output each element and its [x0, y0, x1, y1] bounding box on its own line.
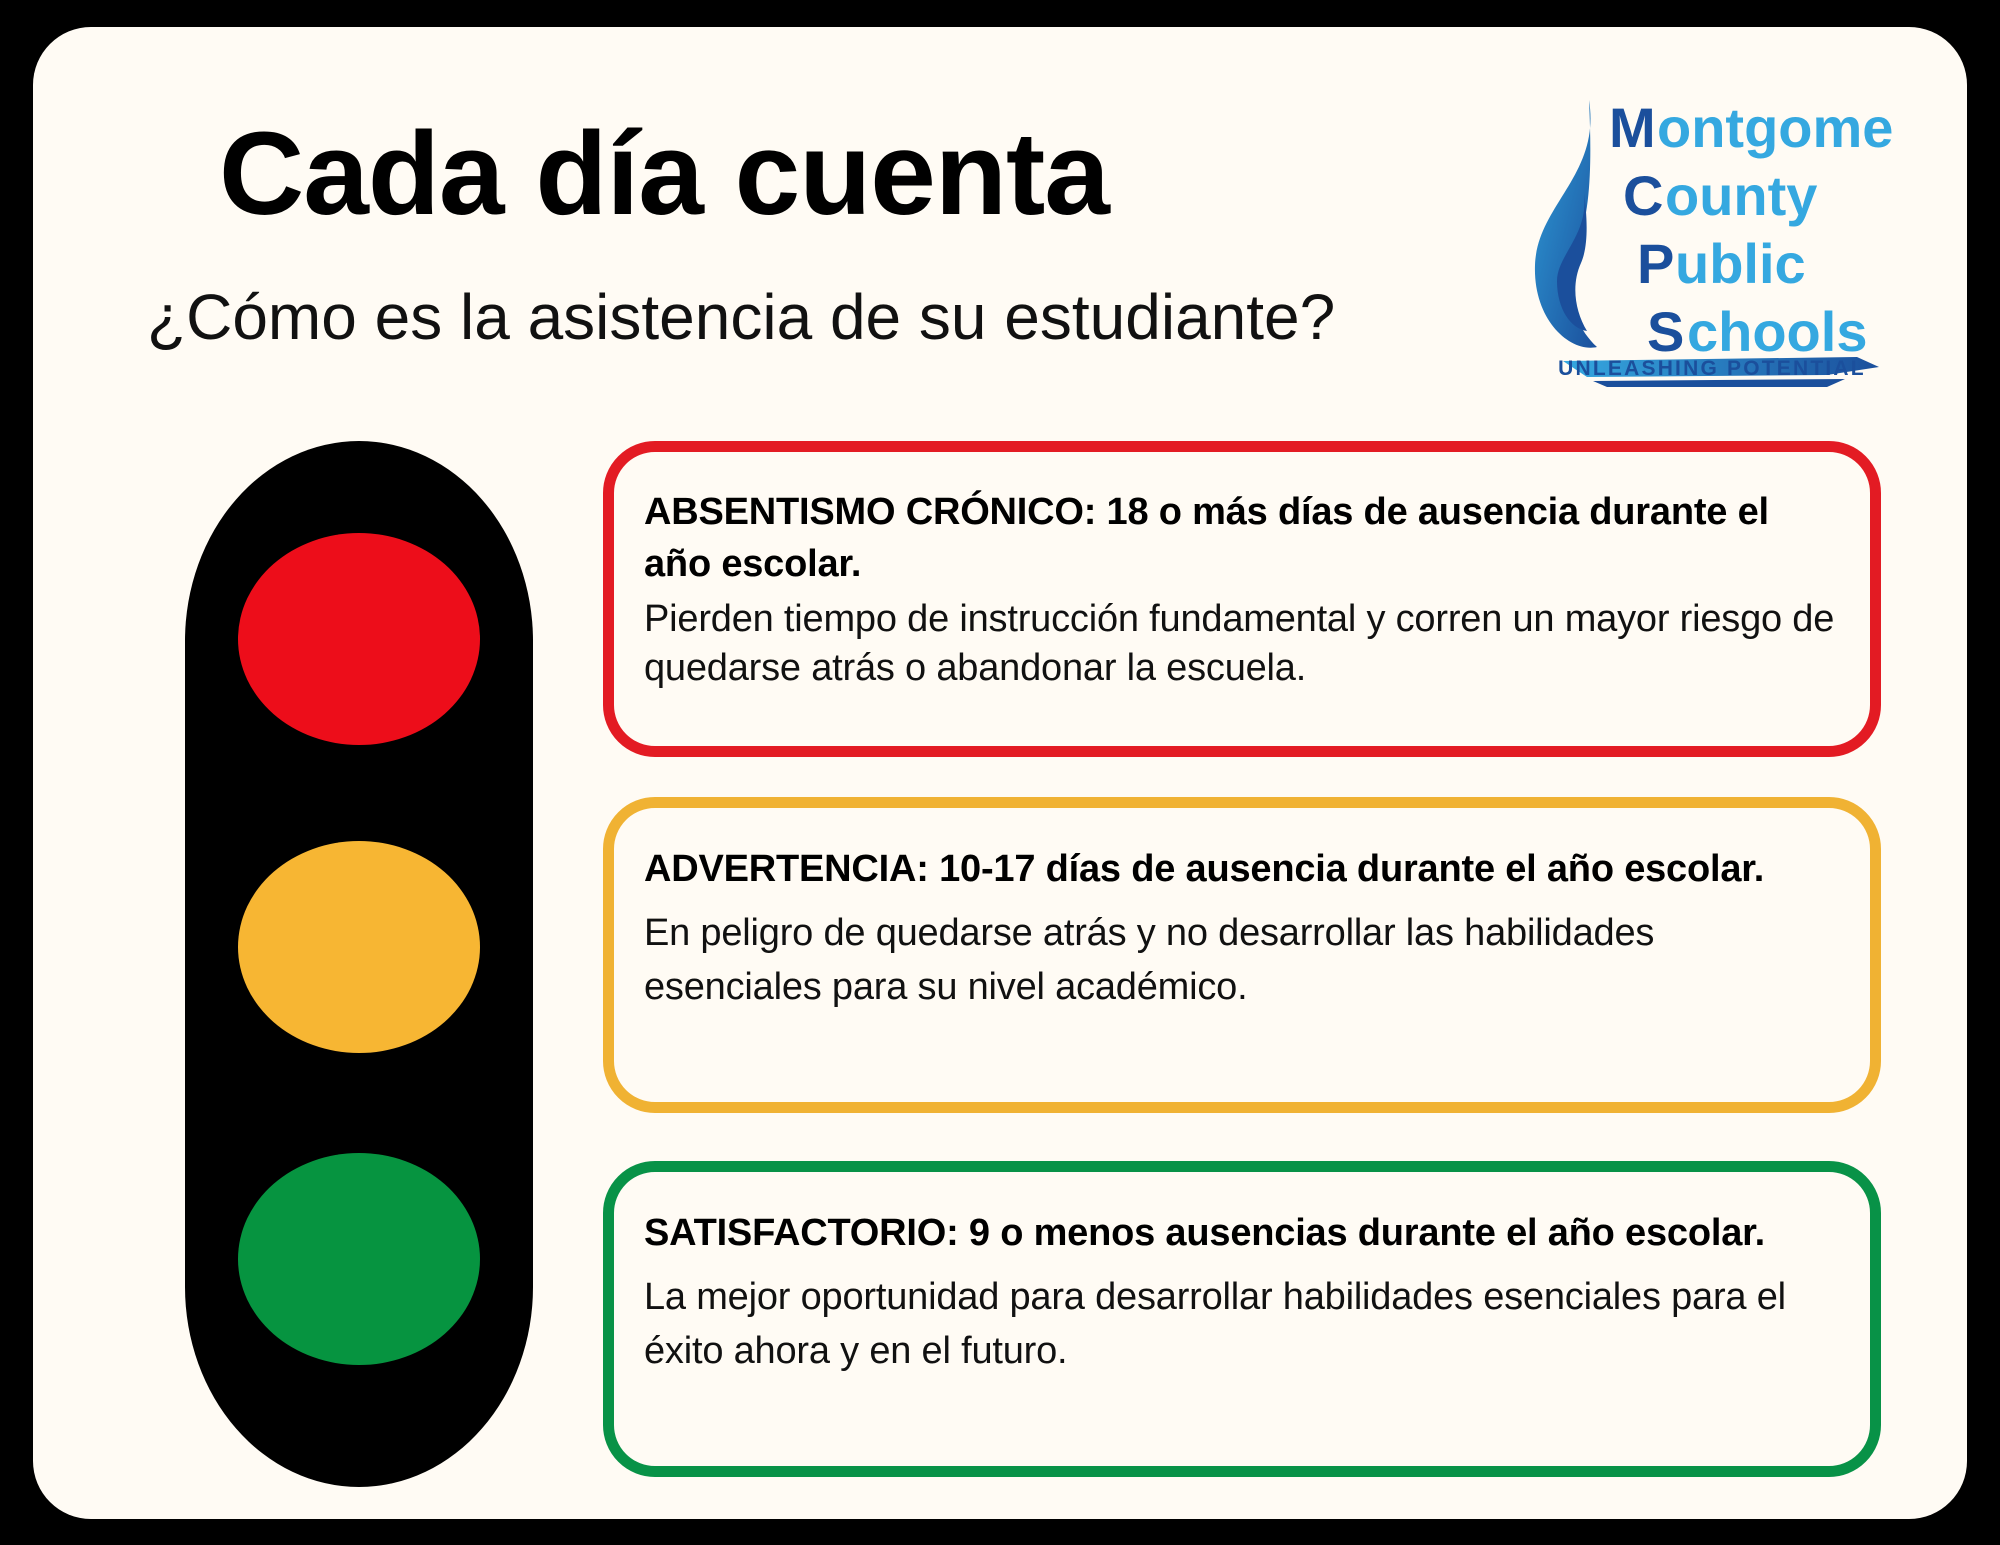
svg-text:ontgomery: ontgomery: [1657, 96, 1897, 159]
water-drop-flame-icon: [1535, 100, 1597, 348]
amber-lamp: [238, 841, 480, 1053]
svg-text:C: C: [1623, 164, 1663, 227]
logo-tagline: UNLEASHING POTENTIAL: [1527, 357, 1897, 381]
info-card-body: En peligro de quedarse atrás y no desarr…: [644, 907, 1840, 1015]
mcps-logo: M ontgomery C ounty P ublic S chools UNL…: [1527, 85, 1897, 397]
info-card-heading: ADVERTENCIA: 10-17 días de ausencia dura…: [644, 842, 1840, 897]
svg-text:ounty: ounty: [1665, 164, 1817, 227]
info-card-heading: SATISFACTORIO: 9 o menos ausencias duran…: [644, 1206, 1840, 1261]
svg-text:chools: chools: [1687, 300, 1867, 363]
poster-root: Cada día cuenta ¿Cómo es la asistencia d…: [0, 0, 2000, 1545]
svg-text:ublic: ublic: [1675, 232, 1806, 295]
svg-text:M: M: [1609, 96, 1656, 159]
red-lamp: [238, 533, 480, 745]
info-card-warning: ADVERTENCIA: 10-17 días de ausencia dura…: [603, 797, 1881, 1113]
page-subtitle: ¿Cómo es la asistencia de su estudiante?: [147, 285, 1335, 349]
info-card-body: La mejor oportunidad para desarrollar ha…: [644, 1271, 1840, 1379]
poster-card: Cada día cuenta ¿Cómo es la asistencia d…: [33, 27, 1967, 1519]
traffic-light-graphic: [185, 441, 533, 1487]
info-card-heading: ABSENTISMO CRÓNICO: 18 o más días de aus…: [644, 486, 1840, 591]
green-lamp: [238, 1153, 480, 1365]
svg-text:P: P: [1637, 232, 1674, 295]
info-card-body: Pierden tiempo de instrucción fundamenta…: [644, 595, 1840, 694]
page-title: Cada día cuenta: [219, 115, 1109, 233]
info-card-chronic-absenteeism: ABSENTISMO CRÓNICO: 18 o más días de aus…: [603, 441, 1881, 757]
svg-text:S: S: [1647, 300, 1684, 363]
info-card-satisfactory: SATISFACTORIO: 9 o menos ausencias duran…: [603, 1161, 1881, 1477]
